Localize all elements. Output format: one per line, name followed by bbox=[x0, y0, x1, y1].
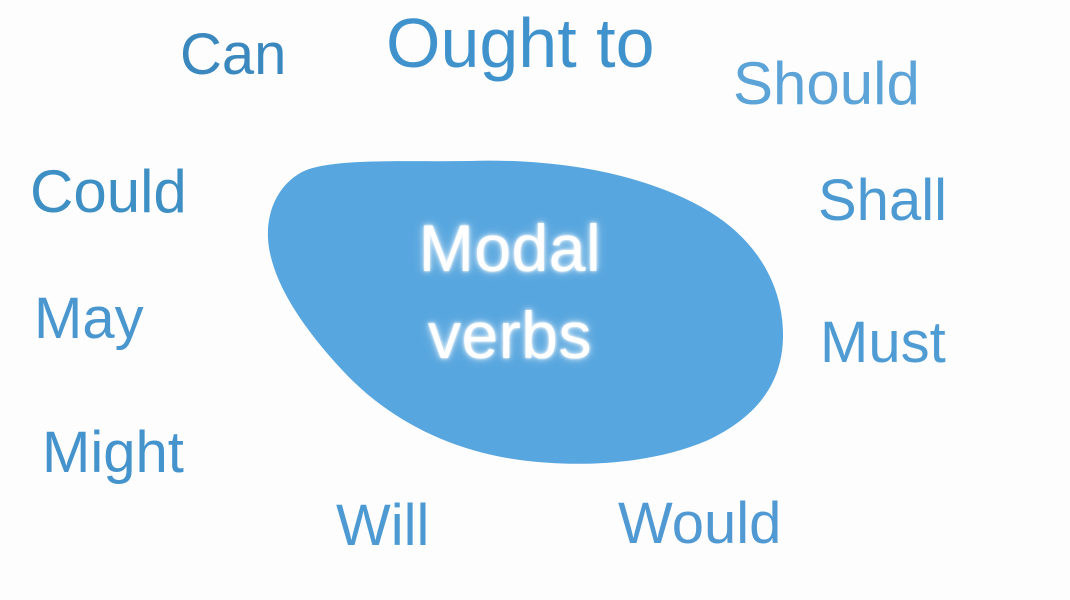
word-will: Will bbox=[336, 497, 429, 555]
center-label-modal-verbs: Modal verbs bbox=[300, 205, 720, 379]
word-can: Can bbox=[180, 26, 286, 84]
word-ought-to: Ought to bbox=[386, 8, 655, 78]
word-must: Must bbox=[820, 314, 946, 372]
word-could: Could bbox=[30, 162, 187, 222]
word-might: Might bbox=[42, 424, 184, 482]
word-should: Should bbox=[733, 54, 920, 114]
word-may: May bbox=[34, 290, 144, 348]
word-cloud-canvas: Modal verbs Can Ought to Should Could Sh… bbox=[0, 0, 1070, 600]
word-shall: Shall bbox=[818, 172, 947, 230]
word-would: Would bbox=[618, 495, 781, 553]
